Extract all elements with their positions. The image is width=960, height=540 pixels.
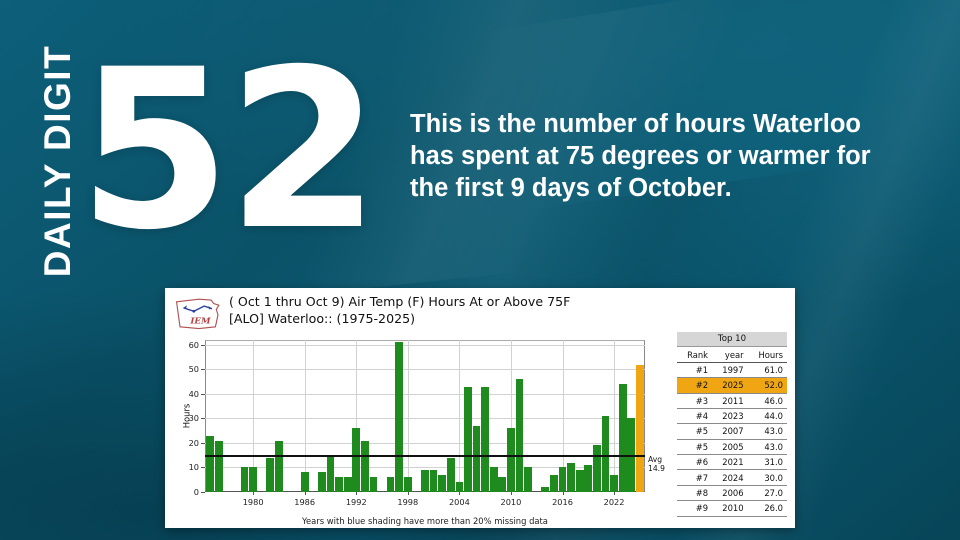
top10-row: #5200543.0 [677, 439, 787, 454]
bar [447, 458, 455, 492]
gridline-horizontal [205, 369, 645, 370]
bar [301, 472, 309, 492]
x-tick-label: 2010 [501, 497, 522, 507]
daily-digit-vertical-title: DAILY DIGIT [37, 31, 79, 291]
bar [541, 487, 549, 492]
gridline-vertical [614, 340, 615, 492]
y-tick-label: 60 [189, 340, 199, 350]
x-tick-mark [459, 492, 460, 495]
headline-text: This is the number of hours Waterloo has… [410, 108, 890, 204]
x-tick-label: 1980 [243, 497, 264, 507]
average-line: Avg 14.9 [205, 455, 645, 456]
top10-cell-hours: 43.0 [748, 424, 787, 439]
bar [602, 416, 610, 492]
gridline-horizontal [205, 345, 645, 346]
bar [610, 475, 618, 492]
top10-row: #7202430.0 [677, 470, 787, 485]
bar [352, 428, 360, 492]
svg-text:IEM: IEM [189, 316, 211, 326]
x-tick-mark [356, 492, 357, 495]
x-tick-label: 1998 [397, 497, 418, 507]
top10-cell-hours: 46.0 [748, 393, 787, 408]
top10-cell-hours: 44.0 [748, 408, 787, 423]
top10-caption: Top 10 [677, 332, 787, 347]
x-tick-mark [408, 492, 409, 495]
top10-cell-rank: #4 [677, 408, 712, 423]
top10-cell-rank: #7 [677, 470, 712, 485]
gridline-horizontal [205, 418, 645, 419]
x-tick-label: 2004 [449, 497, 470, 507]
slide-root: DAILY DIGIT 52 This is the number of hou… [0, 0, 960, 540]
top10-cell-rank: #5 [677, 439, 712, 454]
top10-row: #8200627.0 [677, 485, 787, 500]
top10-row: #5200743.0 [677, 424, 787, 439]
top10-column-header-row: Rank year Hours [677, 347, 787, 362]
top10-cell-year: 2006 [712, 485, 748, 500]
top10-cell-rank: #2 [677, 378, 712, 393]
gridline-vertical [408, 340, 409, 492]
top10-col-rank: Rank [677, 347, 712, 362]
chart-plot-area: 0102030405060 19801986199219982004201020… [205, 340, 645, 492]
bar [404, 477, 412, 492]
bar [576, 470, 584, 492]
top10-table: Top 10 Rank year Hours #1199761.0#220255… [677, 332, 787, 517]
gridline-vertical [459, 340, 460, 492]
bar [335, 477, 343, 492]
average-label-word: Avg [648, 455, 665, 464]
y-tick-mark [201, 492, 205, 493]
chart-footnote: Years with blue shading have more than 2… [205, 516, 645, 526]
y-tick-label: 20 [189, 438, 199, 448]
x-tick-label: 1992 [346, 497, 367, 507]
bar [266, 458, 274, 492]
bar [619, 384, 627, 492]
bar [430, 470, 438, 492]
top10-cell-hours: 27.0 [748, 485, 787, 500]
bar [361, 441, 369, 492]
top10-row: #1199761.0 [677, 362, 787, 377]
bar [567, 463, 575, 492]
bar [327, 455, 335, 492]
bar [387, 477, 395, 492]
y-axis-label: Hours [181, 404, 191, 429]
top10-col-year: year [712, 347, 748, 362]
bar [559, 467, 567, 492]
bar [507, 428, 515, 492]
top10-row: #4202344.0 [677, 408, 787, 423]
top10-cell-year: 2005 [712, 439, 748, 454]
bar [241, 467, 249, 492]
y-tick-mark [201, 369, 205, 370]
x-tick-mark [305, 492, 306, 495]
bar [636, 365, 644, 492]
top10-cell-year: 2025 [712, 378, 748, 393]
bar [370, 477, 378, 492]
bar [249, 467, 257, 492]
top10-cell-year: 2021 [712, 455, 748, 470]
y-tick-mark [201, 345, 205, 346]
bar [344, 477, 352, 492]
top10-cell-rank: #5 [677, 424, 712, 439]
bar [456, 482, 464, 492]
iem-iowa-logo: IEM [173, 294, 225, 332]
y-tick-mark [201, 418, 205, 419]
y-tick-mark [201, 467, 205, 468]
bar [438, 475, 446, 492]
top10-cell-year: 2024 [712, 470, 748, 485]
y-tick-label: 0 [194, 487, 199, 497]
top10-cell-year: 2010 [712, 501, 748, 516]
bar [421, 470, 429, 492]
top10-cell-hours: 30.0 [748, 470, 787, 485]
x-tick-mark [511, 492, 512, 495]
top10-cell-rank: #1 [677, 362, 712, 377]
y-tick-label: 10 [189, 462, 199, 472]
average-line-label: Avg 14.9 [648, 455, 665, 473]
chart-title-line-2: [ALO] Waterloo:: (1975-2025) [229, 310, 699, 327]
top10-row: #2202552.0 [677, 378, 787, 393]
gridline-horizontal [205, 394, 645, 395]
top10-row: #9201026.0 [677, 501, 787, 516]
bar [516, 379, 524, 492]
top10-cell-hours: 43.0 [748, 439, 787, 454]
average-label-value: 14.9 [648, 464, 665, 473]
top10-cell-hours: 61.0 [748, 362, 787, 377]
x-tick-label: 1986 [294, 497, 315, 507]
chart-title-line-1: ( Oct 1 thru Oct 9) Air Temp (F) Hours A… [229, 293, 699, 310]
top10-cell-rank: #8 [677, 485, 712, 500]
gridline-vertical [305, 340, 306, 492]
bar [490, 467, 498, 492]
y-tick-label: 40 [189, 389, 199, 399]
bar [395, 342, 403, 492]
top10-cell-hours: 26.0 [748, 501, 787, 516]
top10-cell-year: 1997 [712, 362, 748, 377]
bar [524, 467, 532, 492]
bar [206, 436, 214, 492]
bar [318, 472, 326, 492]
chart-card: IEM ( Oct 1 thru Oct 9) Air Temp (F) Hou… [165, 288, 795, 528]
top10-col-hours: Hours [748, 347, 787, 362]
top10-cell-year: 2023 [712, 408, 748, 423]
top10-cell-year: 2011 [712, 393, 748, 408]
top10-cell-hours: 31.0 [748, 455, 787, 470]
x-tick-mark [253, 492, 254, 495]
bar [215, 441, 223, 492]
gridline-horizontal [205, 443, 645, 444]
top10-cell-rank: #6 [677, 455, 712, 470]
top10-body: #1199761.0#2202552.0#3201146.0#4202344.0… [677, 362, 787, 516]
top10-cell-rank: #3 [677, 393, 712, 408]
top10-row: #6202131.0 [677, 455, 787, 470]
bar [584, 465, 592, 492]
daily-digit-value: 52 [78, 40, 376, 260]
top10-row: #3201146.0 [677, 393, 787, 408]
chart-title: ( Oct 1 thru Oct 9) Air Temp (F) Hours A… [229, 293, 699, 327]
bar [473, 426, 481, 492]
y-tick-label: 50 [189, 364, 199, 374]
x-tick-mark [614, 492, 615, 495]
top10-cell-hours: 52.0 [748, 378, 787, 393]
bar [498, 477, 506, 492]
bar [481, 387, 489, 492]
bar [593, 445, 601, 492]
x-tick-label: 2022 [604, 497, 625, 507]
y-tick-mark [201, 394, 205, 395]
x-tick-label: 2016 [552, 497, 573, 507]
bar [550, 475, 558, 492]
bar [275, 441, 283, 492]
top10-cell-year: 2007 [712, 424, 748, 439]
x-tick-mark [563, 492, 564, 495]
bar [464, 387, 472, 492]
top10-cell-rank: #9 [677, 501, 712, 516]
y-tick-mark [201, 443, 205, 444]
